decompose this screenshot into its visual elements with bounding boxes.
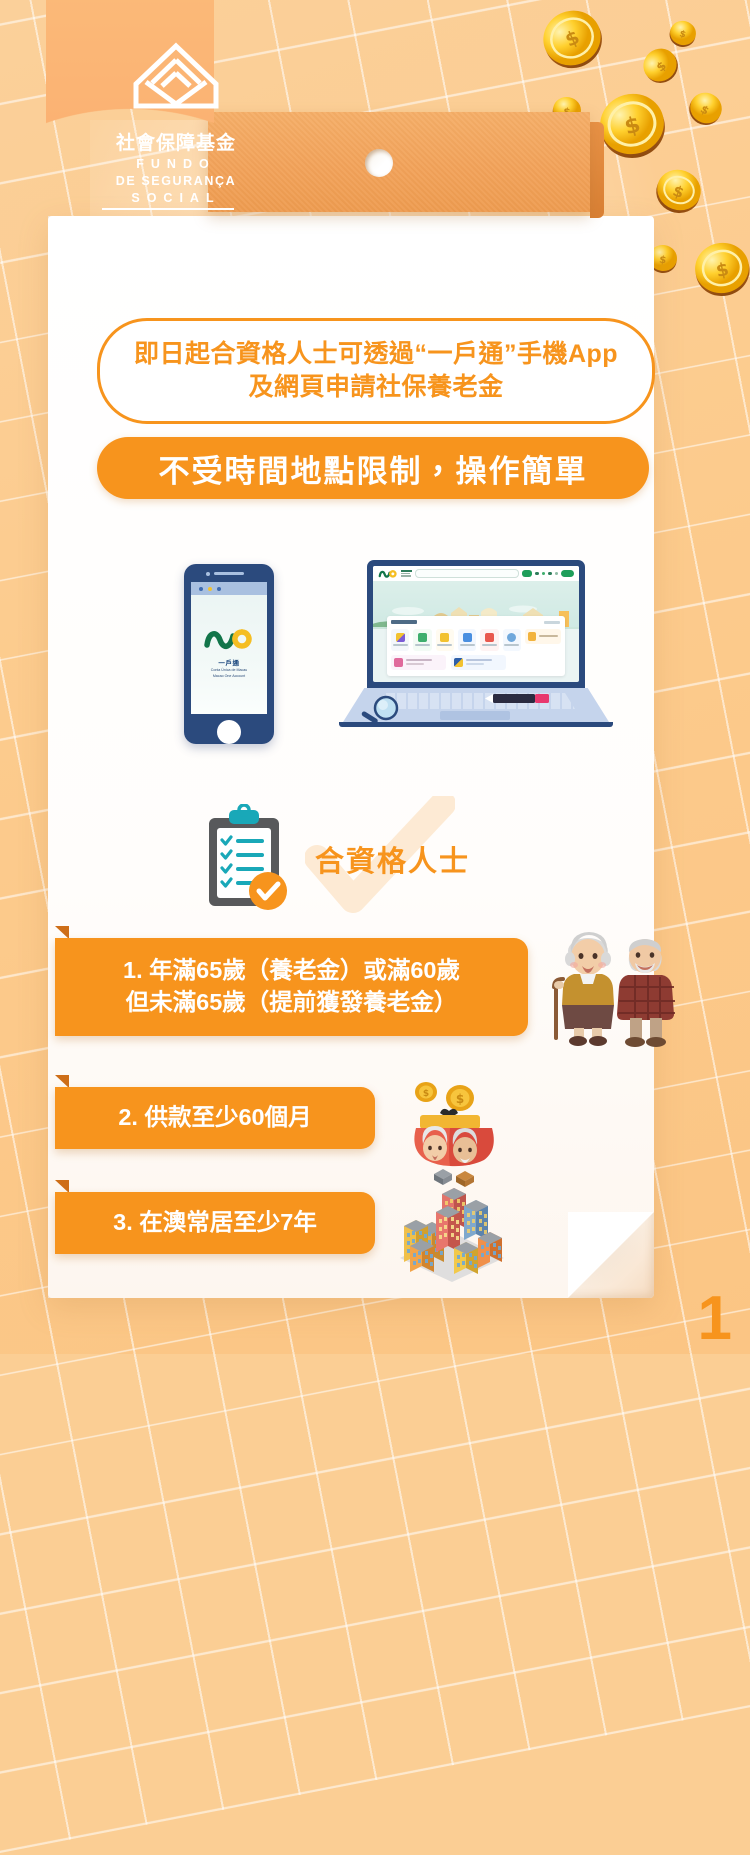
phone-app-name-pt: Conta Única de Macau (191, 668, 267, 673)
app-tile[interactable] (480, 629, 498, 651)
logo-name-pt-line3: SOCIAL (92, 191, 260, 205)
phone-screen: 一戶通 Conta Única de Macau Macao One Accou… (191, 582, 267, 714)
website-primary-button[interactable] (522, 570, 532, 577)
clipboard-checklist-icon (205, 804, 290, 914)
phone-app-logo-block: 一戶通 Conta Única de Macau Macao One Accou… (191, 626, 267, 679)
logo-underline (102, 208, 234, 210)
headline-outlined-line1: 即日起合資格人士可透過“一戶通”手機App (134, 341, 618, 369)
eligibility-item-1-line1: 1. 年滿65歲（養老金）或滿60歲 (123, 955, 460, 987)
pen-icon (483, 693, 551, 704)
mo-logo-icon (204, 626, 254, 650)
website-app-grid (391, 629, 561, 651)
eligibility-item-1: 1. 年滿65歲（養老金）或滿60歲 但未滿65歲（提前獲發養老金） (55, 938, 528, 1036)
website-login-button[interactable] (561, 570, 574, 577)
logo-name-pt-line2: DE SEGURANÇA (92, 174, 260, 188)
clipboard-hole-icon (365, 149, 393, 177)
website-app-grid-row2 (391, 655, 561, 670)
app-tile-wide[interactable] (451, 655, 506, 670)
eligibility-section-header: 合資格人士 (205, 800, 535, 920)
phone-home-button-icon (217, 720, 241, 744)
eligibility-item-3: 3. 在澳常居至少7年 (55, 1192, 375, 1254)
buildings-icon (392, 1182, 512, 1282)
panel-more-link[interactable] (544, 621, 560, 624)
website-search-input[interactable] (415, 569, 519, 578)
svg-text:$: $ (456, 1092, 464, 1106)
eligibility-item-3-line1: 3. 在澳常居至少7年 (113, 1207, 317, 1239)
laptop-lid (367, 560, 585, 690)
clipboard-bar (208, 112, 590, 212)
logo-name-pt-line1: FUNDO (92, 157, 260, 171)
headline-outlined-pill: 即日起合資格人士可透過“一戶通”手機App 及網頁申請社保養老金 (97, 318, 655, 424)
app-tile[interactable] (413, 629, 431, 651)
website-icon-2[interactable] (542, 572, 546, 576)
laptop-screen (373, 566, 579, 682)
phone-app-name-cn: 一戶通 (191, 657, 267, 667)
app-tile[interactable] (436, 629, 454, 651)
eligibility-section-title: 合資格人士 (315, 838, 470, 880)
website-services-panel (387, 616, 565, 676)
app-tile[interactable] (458, 629, 476, 651)
headline-solid-line1: 不受時間地點限制，操作簡單 (159, 446, 588, 491)
page-number: 1 (698, 1288, 732, 1350)
phone-status-bar (191, 582, 267, 595)
svg-text:$: $ (423, 1089, 429, 1099)
phone-illustration: 一戶通 Conta Única de Macau Macao One Accou… (184, 564, 274, 744)
app-tile-wide[interactable] (525, 629, 561, 644)
headline-solid-pill: 不受時間地點限制，操作簡單 (97, 437, 649, 499)
app-tile[interactable] (503, 629, 521, 651)
website-icon-3[interactable] (548, 572, 552, 576)
laptop-illustration (335, 556, 635, 756)
elderly-couple-icon (540, 925, 675, 1047)
phone-camera-icon (206, 572, 210, 576)
magnifier-icon (357, 695, 403, 729)
website-mo-logo-icon (378, 569, 398, 578)
website-icon-4[interactable] (555, 572, 559, 576)
app-tile-wide[interactable] (391, 655, 446, 670)
eligibility-item-1-line2: 但未滿65歲（提前獲發養老金） (126, 987, 458, 1019)
logo-name-cn: 社會保障基金 (92, 134, 260, 153)
devices-illustration: 一戶通 Conta Única de Macau Macao One Accou… (150, 556, 650, 766)
eligibility-item-2-line1: 2. 供款至少60個月 (118, 1102, 311, 1134)
logo-block: 社會保障基金 FUNDO DE SEGURANÇA SOCIAL (46, 0, 214, 268)
headline-outlined-line2: 及網頁申請社保養老金 (248, 374, 503, 402)
app-tile[interactable] (391, 629, 409, 651)
phone-app-name-en: Macao One Account (191, 674, 267, 679)
website-icon-1[interactable] (535, 572, 539, 576)
phone-speaker-icon (214, 572, 244, 575)
website-header (373, 566, 579, 581)
house-envelope-logo-icon (132, 42, 220, 112)
eligibility-item-2: 2. 供款至少60個月 (55, 1087, 375, 1149)
panel-title (391, 620, 417, 624)
clipboard-bar-edge (590, 122, 604, 218)
coin-purse-icon: $ $ (398, 1082, 503, 1187)
laptop-trackpad[interactable] (440, 711, 510, 720)
